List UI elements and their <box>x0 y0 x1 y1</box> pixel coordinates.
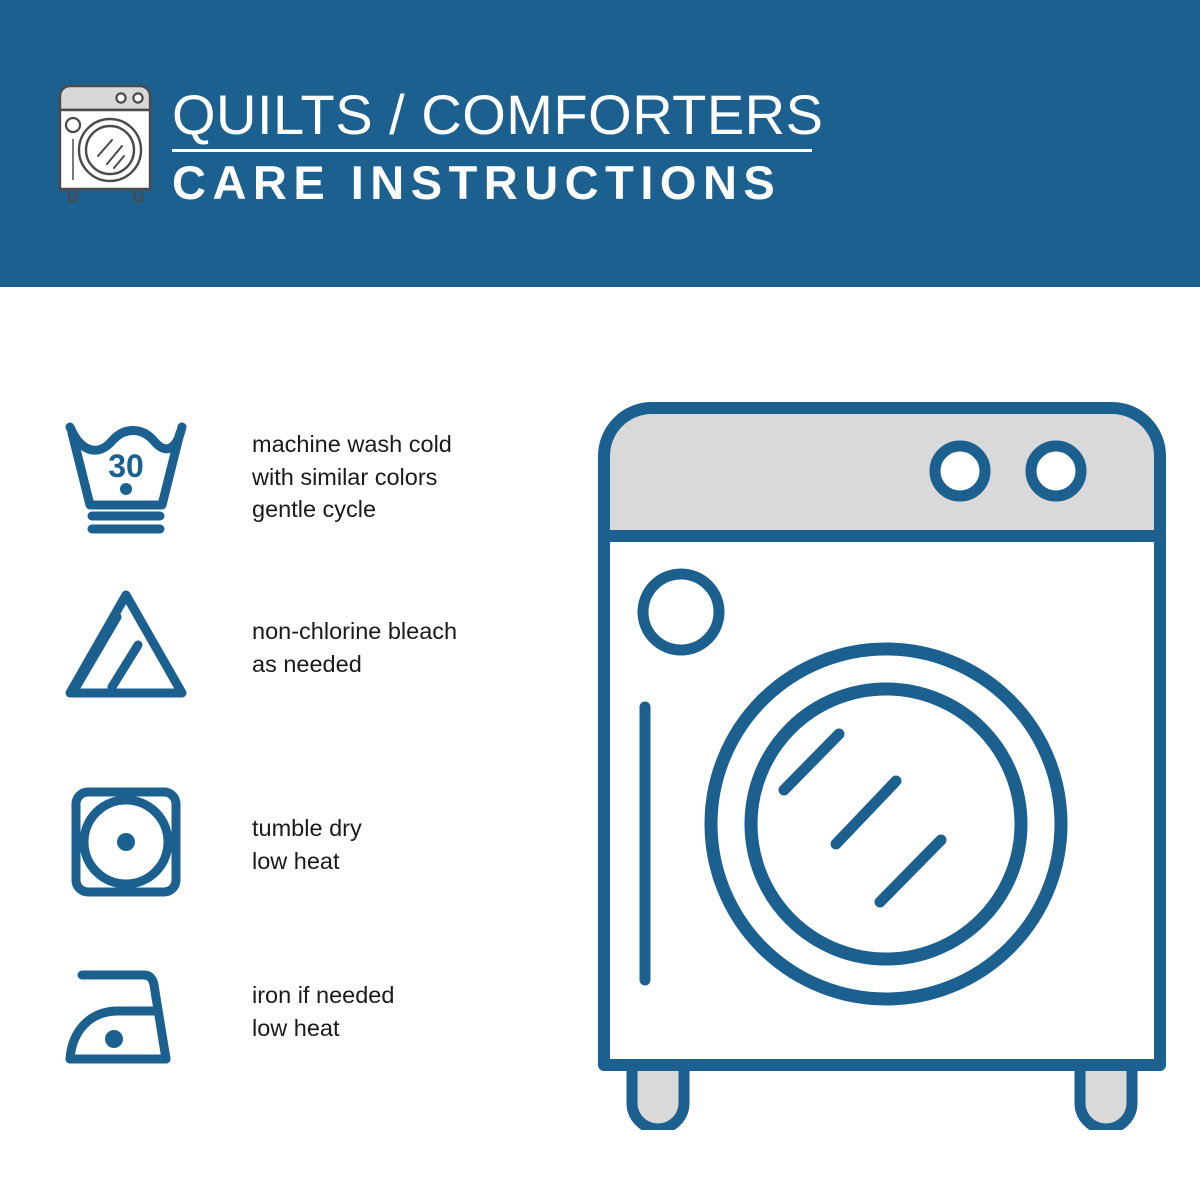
washer-knob-left <box>935 446 985 496</box>
washer-knob-right <box>1031 446 1081 496</box>
care-text-wash: machine wash cold with similar colors ge… <box>252 428 452 526</box>
header-title-block: QUILTS / COMFORTERS CARE INSTRUCTIONS <box>172 84 822 210</box>
tumble-dry-icon <box>60 782 192 902</box>
page-header: QUILTS / COMFORTERS CARE INSTRUCTIONS <box>0 0 1200 287</box>
care-instruction-list: 30 machine wash cold with similar colors… <box>0 287 560 1200</box>
washing-machine-icon <box>50 82 160 208</box>
care-text-iron: iron if needed low heat <box>252 979 394 1044</box>
machine-wash-basin-icon: 30 <box>60 415 192 535</box>
wash-temperature-label: 30 <box>108 448 144 484</box>
title-divider <box>172 149 812 152</box>
front-load-washing-machine-illustration <box>596 400 1166 1130</box>
washer-door-inner-ring <box>751 689 1021 959</box>
care-text-bleach: non-chlorine bleach as needed <box>252 615 457 680</box>
non-chlorine-bleach-triangle-icon <box>60 587 192 707</box>
page-title: QUILTS / COMFORTERS <box>172 84 822 146</box>
washer-latch-circle <box>643 574 719 650</box>
care-text-tumble-dry: tumble dry low heat <box>252 812 362 877</box>
page-subtitle: CARE INSTRUCTIONS <box>172 156 822 210</box>
iron-icon <box>60 959 192 1079</box>
